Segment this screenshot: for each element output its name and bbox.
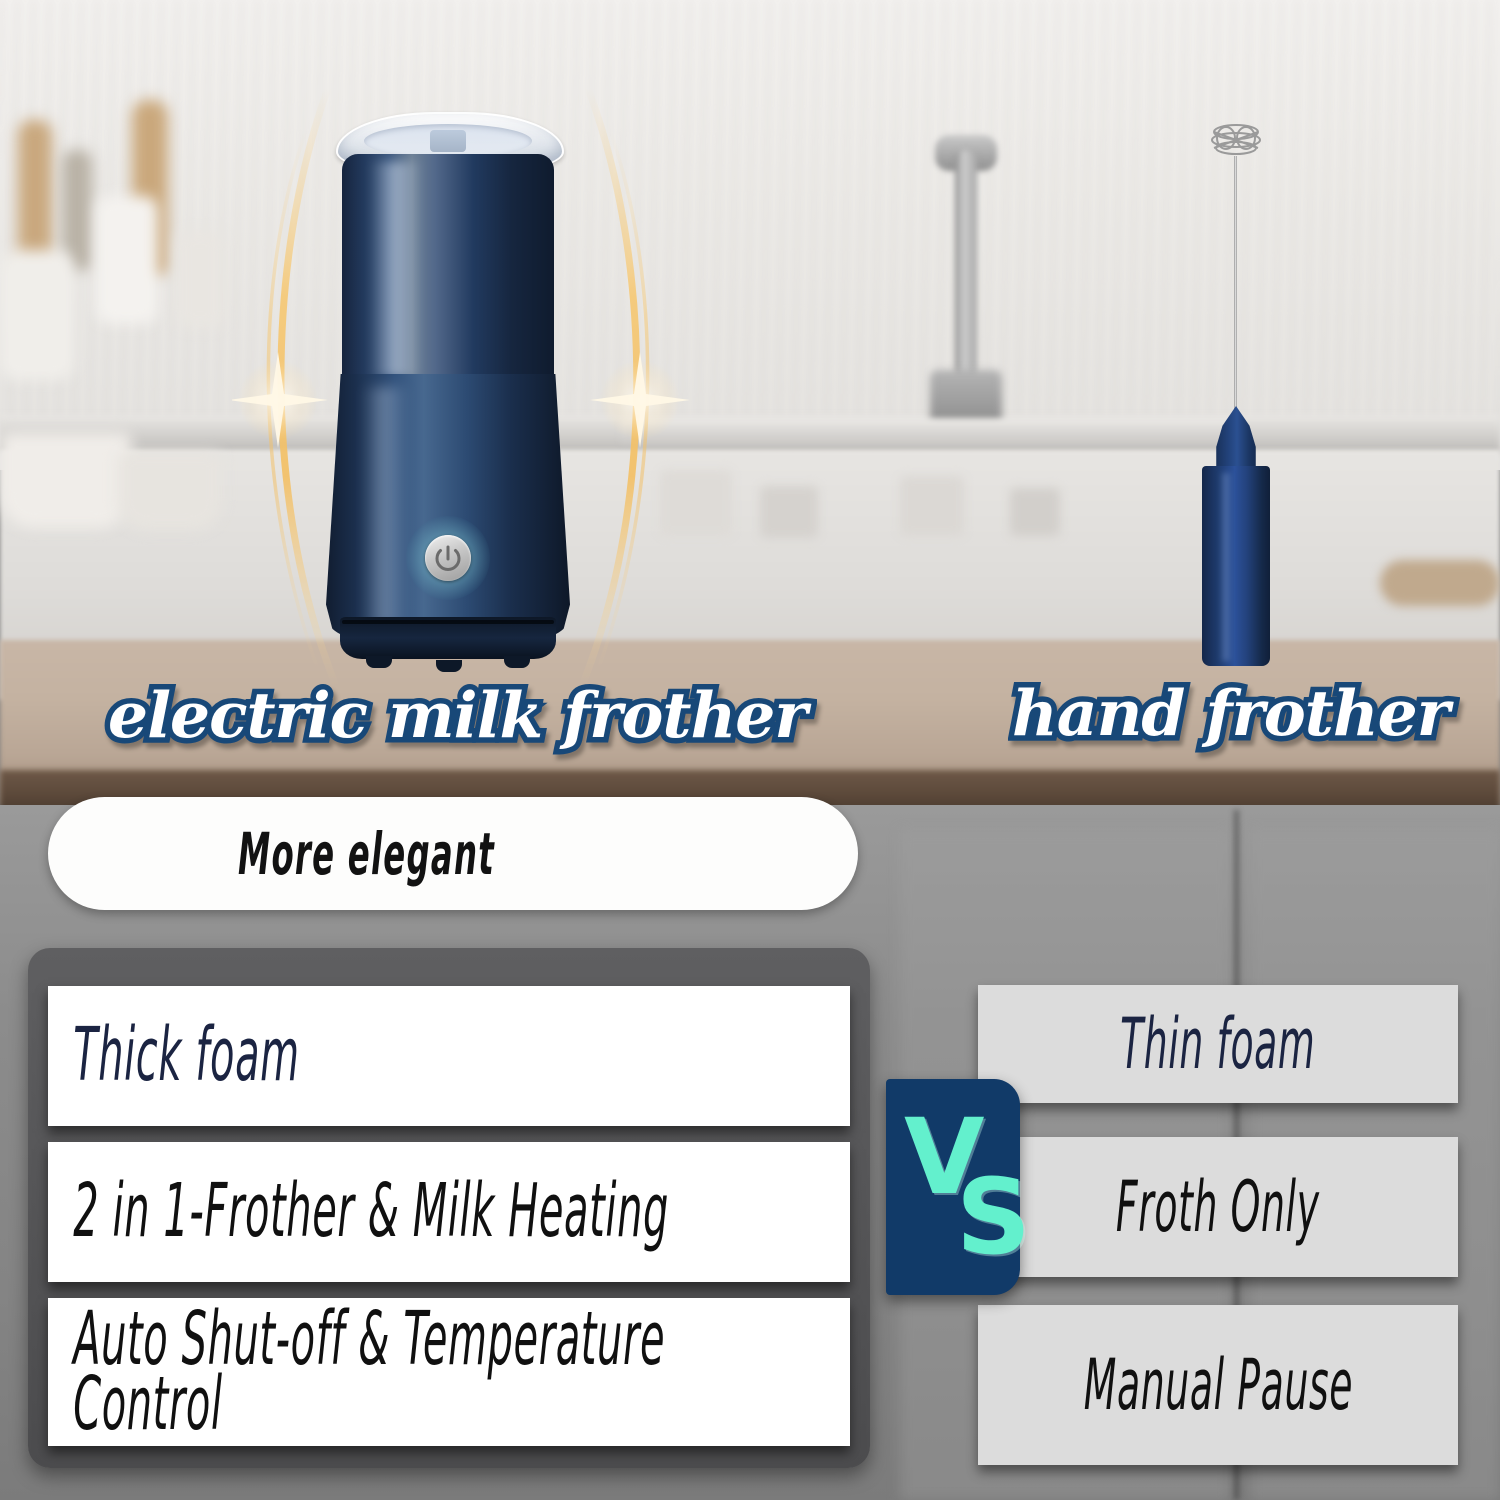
feature-row: Thick foam: [48, 986, 850, 1126]
more-elegant-text: More elegant: [238, 820, 495, 888]
feature-text: Thick foam: [48, 1023, 300, 1088]
power-icon: [425, 535, 471, 581]
frother-foot: [366, 656, 392, 668]
background-jar: [96, 196, 158, 324]
feature-row: Auto Shut-off & Temperature Control: [48, 1298, 850, 1446]
background-counter-object: [1010, 488, 1060, 536]
background-sink-rim: [620, 418, 1240, 444]
comparison-row: Froth Only: [978, 1137, 1458, 1277]
electric-milk-frother-image: [318, 112, 578, 672]
feature-row: 2 in 1-Frother & Milk Heating: [48, 1142, 850, 1282]
background-jar: [0, 250, 74, 380]
hand-frother-highlight: [1220, 473, 1232, 661]
frother-foot: [504, 656, 530, 668]
hand-frother-tip: [1210, 406, 1262, 472]
background-utensil: [18, 120, 52, 270]
background-counter-object: [660, 470, 732, 536]
hand-frother-label: hand frother: [1012, 676, 1449, 750]
hand-frother-image: [1186, 118, 1286, 648]
background-bowl: [0, 432, 132, 528]
frother-foot: [436, 660, 462, 672]
electric-frother-feature-panel: Thick foam 2 in 1-Frother & Milk Heating…: [28, 948, 870, 1468]
frother-body-highlight: [362, 387, 408, 627]
comparison-row: Manual Pause: [978, 1305, 1458, 1465]
versus-badge: V S: [886, 1079, 1020, 1295]
background-jar: [176, 232, 224, 328]
background-bowl: [118, 452, 222, 530]
comparison-text: Thin foam: [1120, 1003, 1315, 1085]
feature-text: Auto Shut-off & Temperature Control: [48, 1307, 665, 1437]
background-faucet-neck: [955, 150, 977, 380]
whisk-shaft: [1234, 156, 1237, 418]
versus-letter-s: S: [956, 1165, 1031, 1269]
background-counter-object: [760, 486, 818, 538]
electric-frother-label: electric milk frother: [108, 678, 807, 752]
background-counter-object: [1380, 560, 1500, 606]
background-counter-object: [900, 476, 964, 536]
comparison-text: Froth Only: [1116, 1166, 1320, 1248]
comparison-row: Thin foam: [978, 985, 1458, 1103]
frother-upper-highlight: [370, 162, 422, 377]
hand-frother-handle: [1202, 466, 1270, 666]
frother-lid-knob: [430, 130, 466, 152]
comparison-text: Manual Pause: [1083, 1344, 1352, 1426]
frother-base-seam: [342, 620, 554, 624]
more-elegant-badge: More elegant: [48, 797, 858, 910]
product-comparison-infographic: electric milk frother hand frother More …: [0, 0, 1500, 1500]
power-button[interactable]: [425, 535, 471, 581]
feature-text: 2 in 1-Frother & Milk Heating: [48, 1179, 669, 1244]
